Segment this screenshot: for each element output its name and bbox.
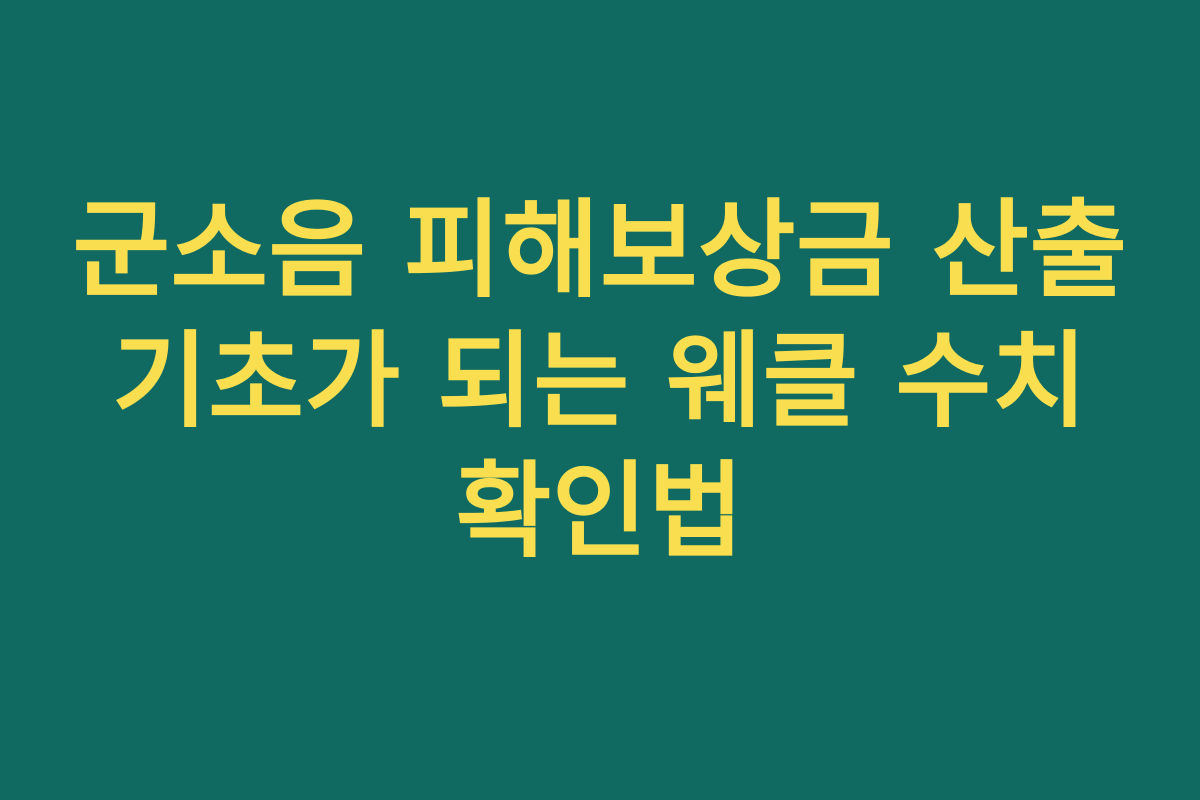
title-line-3: 확인법 xyxy=(456,446,745,576)
thumbnail-card: 군소음 피해보상금 산출 기초가 되는 웨클 수치 확인법 xyxy=(0,0,1200,800)
page-title: 군소음 피해보상금 산출 기초가 되는 웨클 수치 확인법 xyxy=(40,186,1160,576)
title-line-2: 기초가 되는 웨클 수치 xyxy=(112,316,1088,446)
title-line-1: 군소음 피해보상금 산출 xyxy=(72,186,1127,316)
